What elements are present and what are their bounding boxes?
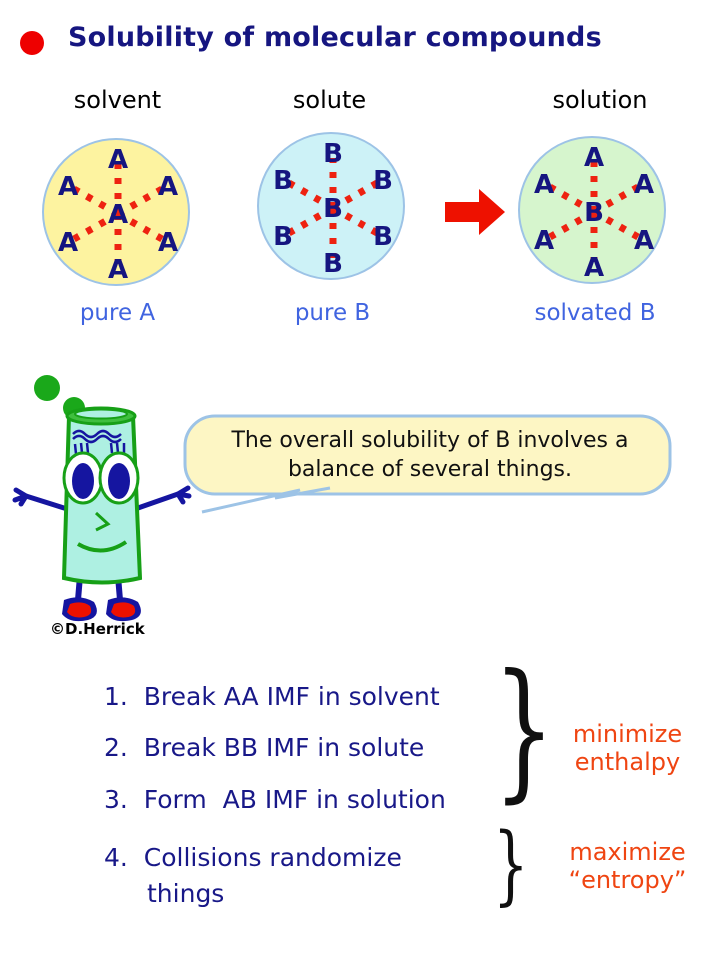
annotation-maximize-entropy: maximize “entropy” bbox=[540, 838, 715, 895]
annotation-minimize-enthalpy: minimize enthalpy bbox=[540, 720, 715, 777]
speech-bubble-text: The overall solubility of B involves a b… bbox=[200, 427, 660, 484]
shoe-icon bbox=[62, 597, 141, 621]
list-item: 1. Break AA IMF in solvent bbox=[104, 682, 440, 711]
molecule-letter: B bbox=[273, 224, 293, 250]
page-title: Solubility of molecular compounds bbox=[68, 22, 602, 53]
list-item-continuation: things bbox=[147, 879, 224, 908]
molecule-letter: A bbox=[158, 174, 178, 200]
molecule-circle-solution: A A A A A A B bbox=[518, 136, 666, 284]
beaker-character-icon bbox=[12, 368, 192, 628]
list-item: 4. Collisions randomize bbox=[104, 843, 402, 872]
molecule-letter: A bbox=[584, 255, 604, 281]
molecule-letter: B bbox=[323, 251, 343, 277]
right-arrow-icon bbox=[443, 186, 507, 238]
molecule-letter-center: B bbox=[323, 196, 343, 222]
molecule-letter: A bbox=[634, 228, 654, 254]
bubble-icon bbox=[34, 375, 60, 401]
heading-solvent: solvent bbox=[50, 86, 185, 114]
caption-pure-b: pure B bbox=[255, 300, 410, 326]
molecule-letter: A bbox=[534, 172, 554, 198]
molecule-letter: A bbox=[158, 230, 178, 256]
mascot-credit: ©D.Herrick bbox=[50, 620, 145, 638]
molecule-circle-solvent: A A A A A A A bbox=[42, 138, 190, 286]
list-item: 2. Break BB IMF in solute bbox=[104, 733, 424, 762]
pupil-icon bbox=[108, 463, 130, 499]
list-item: 3. Form AB IMF in solution bbox=[104, 785, 446, 814]
molecule-letter: B bbox=[323, 141, 343, 167]
title-bullet-icon bbox=[20, 31, 44, 55]
molecule-letter: A bbox=[108, 257, 128, 283]
heading-solution: solution bbox=[525, 86, 675, 114]
heading-solute: solute bbox=[262, 86, 397, 114]
caption-solvated-b: solvated B bbox=[505, 300, 685, 326]
molecule-letter: A bbox=[584, 145, 604, 171]
molecule-letter: A bbox=[534, 228, 554, 254]
molecule-letter: B bbox=[273, 168, 293, 194]
molecule-letter: B bbox=[373, 224, 393, 250]
molecule-letter: A bbox=[108, 147, 128, 173]
molecule-letter: B bbox=[373, 168, 393, 194]
caption-pure-a: pure A bbox=[40, 300, 195, 326]
brace-entropy: } bbox=[493, 822, 529, 908]
molecule-letter: A bbox=[58, 230, 78, 256]
molecule-letter-center: A bbox=[108, 202, 128, 228]
molecule-letter: A bbox=[634, 172, 654, 198]
molecule-letter: A bbox=[58, 174, 78, 200]
pupil-icon bbox=[72, 463, 94, 499]
molecule-letter-center: B bbox=[584, 200, 604, 226]
molecule-circle-solute: B B B B B B B bbox=[257, 132, 405, 280]
